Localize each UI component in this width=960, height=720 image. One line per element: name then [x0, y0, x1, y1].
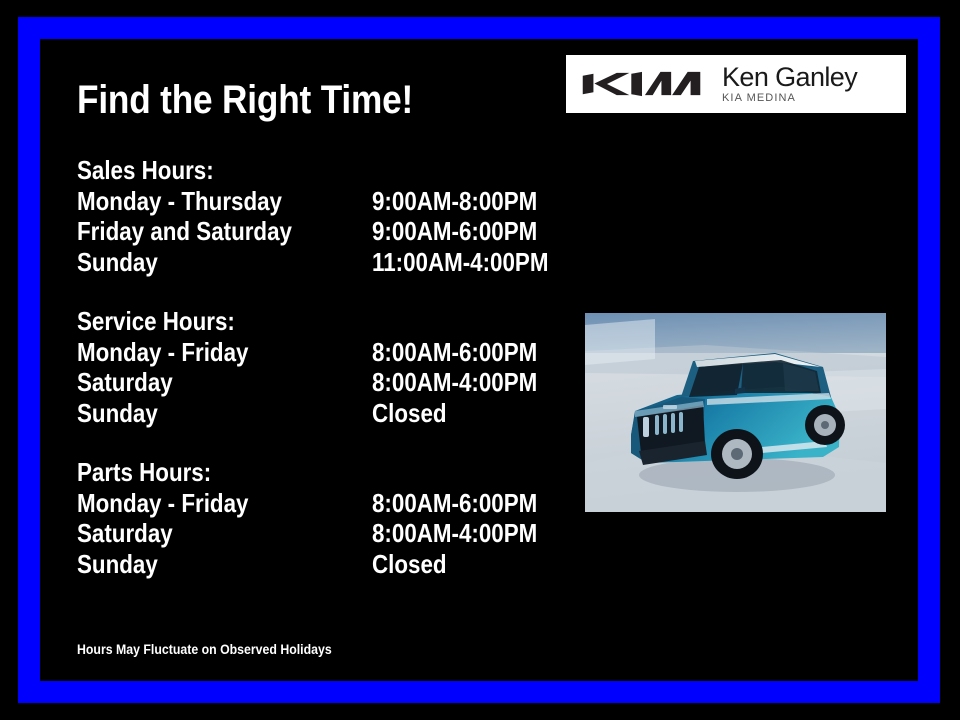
time-value: 9:00AM-6:00PM	[372, 216, 537, 247]
page-title: Find the Right Time!	[77, 78, 413, 122]
day-label: Sunday	[77, 398, 158, 429]
hours-group-heading: Parts Hours:	[77, 457, 481, 488]
hours-group-sales: Sales Hours: Monday - Thursday 9:00AM-8:…	[77, 155, 547, 277]
holiday-disclaimer: Hours May Fluctuate on Observed Holidays	[77, 640, 332, 658]
day-label: Sunday	[77, 247, 158, 278]
day-label: Saturday	[77, 367, 173, 398]
kia-logomark-icon	[578, 67, 706, 101]
time-value: Closed	[372, 549, 447, 580]
day-label: Friday and Saturday	[77, 216, 292, 247]
dealer-name: Ken Ganley	[722, 63, 896, 91]
day-label: Monday - Thursday	[77, 186, 282, 217]
hours-group-heading: Sales Hours:	[77, 155, 481, 186]
day-label: Sunday	[77, 549, 158, 580]
time-value: 8:00AM-6:00PM	[372, 488, 537, 519]
time-value: 11:00AM-4:00PM	[372, 247, 548, 278]
hours-row: Saturday 8:00AM-4:00PM	[77, 367, 547, 398]
day-label: Monday - Friday	[77, 337, 248, 368]
dealer-name-block: Ken Ganley KIA MEDINA	[722, 63, 896, 105]
time-value: 8:00AM-4:00PM	[372, 367, 537, 398]
hours-row: Sunday Closed	[77, 549, 547, 580]
hours-row: Sunday 11:00AM-4:00PM	[77, 247, 547, 278]
day-label: Saturday	[77, 518, 173, 549]
time-value: Closed	[372, 398, 447, 429]
slide-root: Find the Right Time! Sales Hours: Monday…	[0, 0, 960, 720]
day-label: Monday - Friday	[77, 488, 248, 519]
hours-group-service: Service Hours: Monday - Friday 8:00AM-6:…	[77, 306, 547, 428]
time-value: 8:00AM-4:00PM	[372, 518, 537, 549]
hours-row: Saturday 8:00AM-4:00PM	[77, 518, 547, 549]
hours-group-heading: Service Hours:	[77, 306, 481, 337]
slide-content: Find the Right Time! Sales Hours: Monday…	[0, 0, 960, 720]
time-value: 9:00AM-8:00PM	[372, 186, 537, 217]
dealer-logo-banner: Ken Ganley KIA MEDINA	[566, 55, 906, 113]
hours-row: Monday - Friday 8:00AM-6:00PM	[77, 488, 547, 519]
hours-row: Monday - Thursday 9:00AM-8:00PM	[77, 186, 547, 217]
hours-row: Monday - Friday 8:00AM-6:00PM	[77, 337, 547, 368]
hours-group-parts: Parts Hours: Monday - Friday 8:00AM-6:00…	[77, 457, 547, 579]
hours-row: Sunday Closed	[77, 398, 547, 429]
hours-row: Friday and Saturday 9:00AM-6:00PM	[77, 216, 547, 247]
time-value: 8:00AM-6:00PM	[372, 337, 537, 368]
dealer-location: KIA MEDINA	[722, 92, 896, 105]
kia-ev9-suv-photo	[585, 313, 886, 512]
hours-area: Sales Hours: Monday - Thursday 9:00AM-8:…	[77, 155, 547, 579]
